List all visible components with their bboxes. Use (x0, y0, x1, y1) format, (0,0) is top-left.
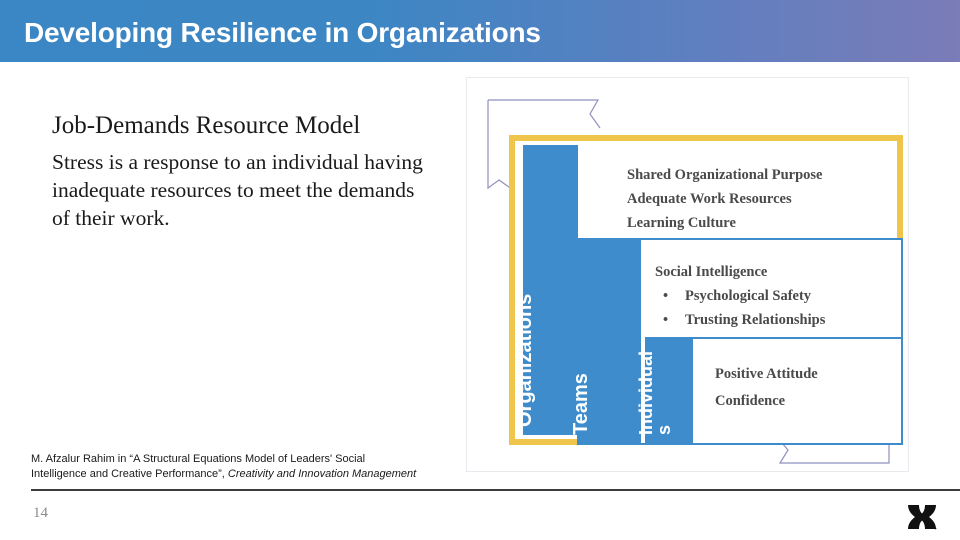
butterfly-bowtie-logo (906, 503, 938, 531)
level-item: Social Intelligence (655, 260, 825, 284)
level-item: Positive Attitude (715, 361, 818, 388)
level-content-individuals: Positive Attitude Confidence (715, 361, 818, 415)
footer-divider (31, 489, 960, 491)
bullet-glyph: • (655, 308, 685, 332)
level-label-individuals: Individual (636, 351, 657, 435)
section-heading: Job-Demands Resource Model (52, 112, 360, 140)
citation-journal-title: Creativity and Innovation Management (228, 468, 416, 480)
level-label-individuals-wrap: s (654, 425, 675, 435)
feedback-arrow-top-head (488, 100, 600, 128)
level-item: Psychological Safety (685, 284, 811, 308)
page-number: 14 (33, 505, 48, 522)
level-content-teams: Social Intelligence • Psychological Safe… (655, 260, 825, 332)
level-item: Adequate Work Resources (627, 187, 823, 211)
level-label-organizations: Organizations (514, 294, 537, 427)
bullet-glyph: • (655, 284, 685, 308)
slide-title-bar: Developing Resilience in Organizations (0, 0, 960, 62)
section-body-text: Stress is a response to an individual ha… (52, 148, 432, 232)
page-title: Developing Resilience in Organizations (24, 17, 541, 49)
citation-line-2-plain: Intelligence and Creative Performance”, (31, 468, 228, 480)
level-item: Learning Culture (627, 211, 823, 235)
citation-line-1: M. Afzalur Rahim in “A Structural Equati… (31, 453, 365, 465)
level-item-bulleted: • Psychological Safety (655, 284, 825, 308)
level-item: Confidence (715, 388, 818, 415)
level-content-organizations: Shared Organizational Purpose Adequate W… (627, 163, 823, 235)
level-label-teams: Teams (570, 373, 593, 435)
level-label-strip-individuals: Individual s (647, 339, 693, 443)
jd-r-model-diagram: Organizations Shared Organizational Purp… (466, 77, 909, 472)
level-item: Shared Organizational Purpose (627, 163, 823, 187)
level-item: Trusting Relationships (685, 308, 825, 332)
level-box-individuals[interactable]: Individual s Positive Attitude Confidenc… (645, 337, 903, 445)
level-item-bulleted: • Trusting Relationships (655, 308, 825, 332)
citation: M. Afzalur Rahim in “A Structural Equati… (31, 452, 471, 482)
level-label-strip-teams: Teams (579, 240, 641, 443)
